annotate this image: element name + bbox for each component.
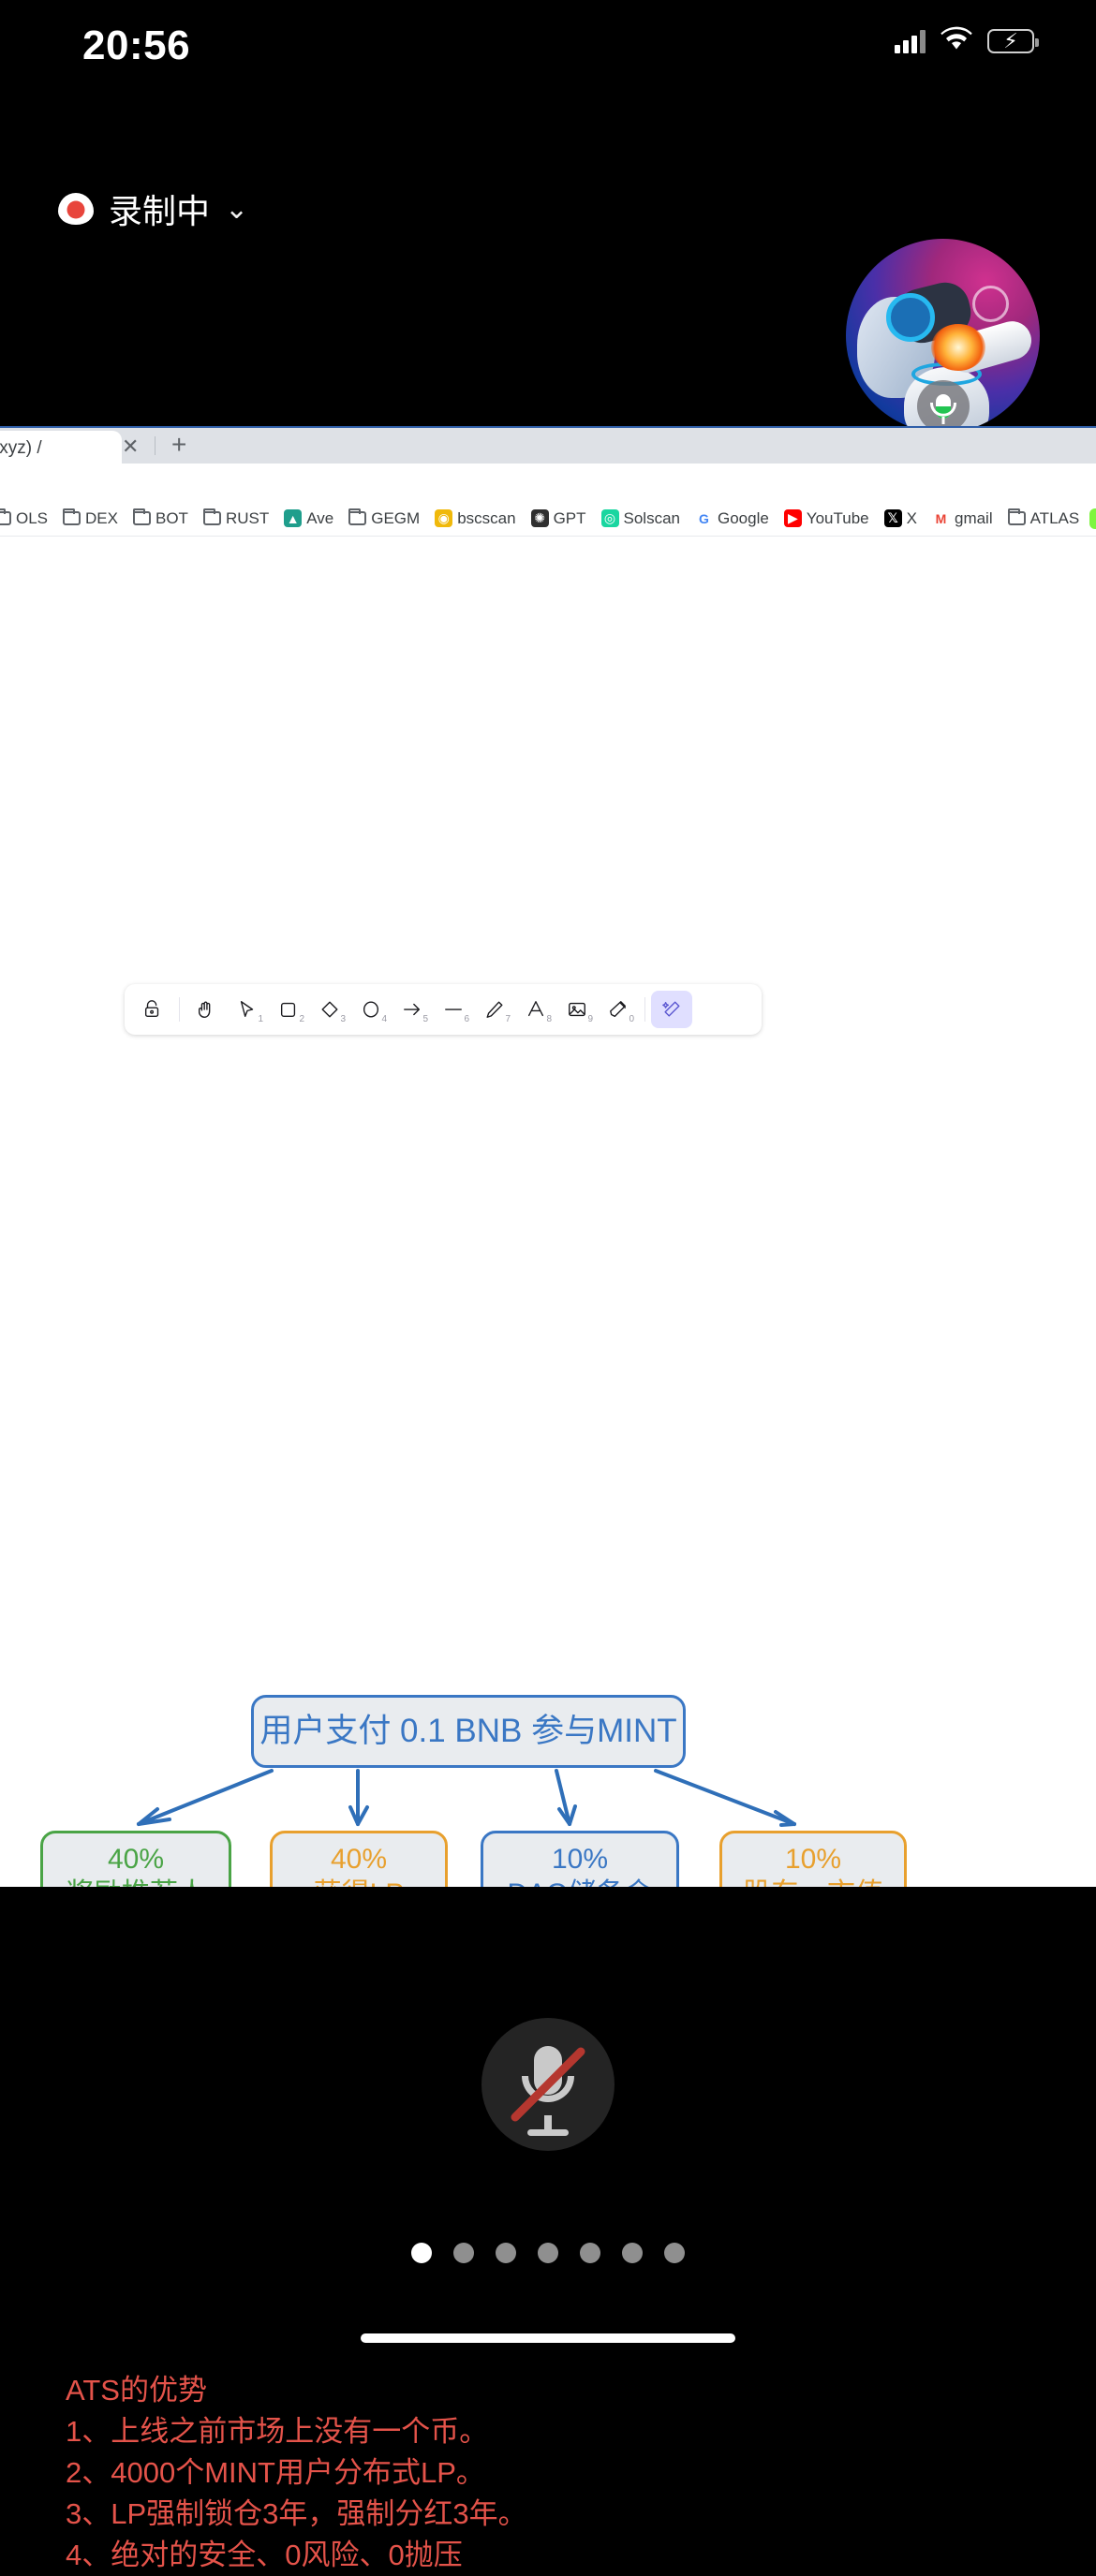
gmail-icon: M xyxy=(932,509,950,527)
folder-icon xyxy=(1008,509,1026,527)
bookmark-rust[interactable]: RUST xyxy=(199,508,274,530)
ave-icon: ▲ xyxy=(284,509,302,527)
bookmark-label: Solscan xyxy=(624,509,680,528)
youtube-icon: ▶ xyxy=(784,509,802,527)
node-percent: 40% xyxy=(331,1843,387,1877)
cellular-signal-icon xyxy=(895,29,926,53)
bookmark-label: BOT xyxy=(156,509,188,528)
node-percent: 40% xyxy=(108,1843,164,1877)
bookmark-youtube[interactable]: ▶YouTube xyxy=(779,508,874,530)
bookmark-label: gmail xyxy=(955,509,993,528)
bookmark-label: RUST xyxy=(226,509,269,528)
bookmark-ave[interactable]: ▲Ave xyxy=(279,508,338,530)
folder-icon xyxy=(203,509,221,527)
tab-title: (@AtlasDao_xyz) / xyxy=(0,438,42,459)
page-dot-6[interactable] xyxy=(622,2243,643,2263)
new-tab-button[interactable]: + xyxy=(171,432,186,458)
status-indicators: ⚡ xyxy=(895,26,1034,55)
bookmark-gegm[interactable]: GEGM xyxy=(344,508,424,530)
browser-tab-strip: (@AtlasDao_xyz) / ✕ + xyxy=(0,426,1096,464)
participant-avatar-wrap[interactable] xyxy=(846,239,1040,433)
page-dot-4[interactable] xyxy=(538,2243,558,2263)
status-time: 20:56 xyxy=(82,22,190,69)
bookmark-label: GPT xyxy=(554,509,586,528)
bookmark-x[interactable]: 𝕏X xyxy=(880,508,922,530)
mic-muted-icon[interactable] xyxy=(481,2018,615,2151)
battery-charging-icon: ⚡ xyxy=(987,29,1034,53)
bookmark-label: X xyxy=(907,509,917,528)
browser-window: (@AtlasDao_xyz) / ✕ + OLSDEXBOTRUST▲AveG… xyxy=(0,426,1096,1887)
browser-tab-active[interactable]: (@AtlasDao_xyz) / xyxy=(0,431,122,465)
bookmark-label: DEX xyxy=(85,509,118,528)
note-ats-advantages: ATS的优势 1、上线之前市场上没有一个币。 2、4000个MINT用户分布式L… xyxy=(66,2370,527,2576)
bookmark-gmail[interactable]: Mgmail xyxy=(927,508,998,530)
bookmark-label: GEGM xyxy=(371,509,420,528)
wifi-icon xyxy=(940,26,972,55)
bookmark-bot[interactable]: BOT xyxy=(128,508,193,530)
page-indicator-dots[interactable] xyxy=(411,2243,685,2263)
bookmark-bscscan[interactable]: ◉bscscan xyxy=(430,508,520,530)
page-dot-1[interactable] xyxy=(411,2243,432,2263)
folder-icon xyxy=(348,509,366,527)
mic-on-icon[interactable] xyxy=(917,380,970,433)
bscscan-icon: ◉ xyxy=(435,509,452,527)
openai-icon: ✺ xyxy=(531,509,549,527)
bookmark-label: ATLAS xyxy=(1030,509,1080,528)
page-dot-2[interactable] xyxy=(453,2243,474,2263)
page-dot-5[interactable] xyxy=(580,2243,600,2263)
recording-dot-icon xyxy=(58,193,94,225)
bookmark-solscan[interactable]: ◎Solscan xyxy=(597,508,685,530)
bookmark-label: OLS xyxy=(16,509,48,528)
bookmark-label: Ave xyxy=(306,509,333,528)
bookmark-ols[interactable]: OLS xyxy=(0,508,52,530)
folder-icon xyxy=(0,509,11,527)
folder-icon xyxy=(63,509,81,527)
bookmark-dex[interactable]: DEX xyxy=(58,508,123,530)
home-indicator xyxy=(361,2333,735,2343)
phone-status-bar: 20:56 ⚡ xyxy=(0,0,1096,94)
node-percent: 10% xyxy=(785,1843,841,1877)
qr-extension-icon[interactable] xyxy=(1089,508,1096,529)
x-icon: 𝕏 xyxy=(884,509,902,527)
browser-address-bar[interactable] xyxy=(0,464,1096,501)
bookmark-atlas[interactable]: ATLAS xyxy=(1003,508,1085,530)
google-icon: G xyxy=(695,509,713,527)
node-percent: 10% xyxy=(552,1843,608,1877)
tab-separator xyxy=(155,436,156,455)
bookmark-label: bscscan xyxy=(457,509,515,528)
tab-close-button[interactable]: ✕ xyxy=(122,436,139,457)
bookmark-label: Google xyxy=(718,509,769,528)
bookmarks-bar: OLSDEXBOTRUST▲AveGEGM◉bscscan✺GPT◎Solsca… xyxy=(0,501,1096,537)
meeting-bottom-bar xyxy=(0,1887,1096,2371)
extension-icons xyxy=(1089,508,1096,529)
recording-status[interactable]: 录制中 ⌄ xyxy=(58,184,248,233)
chevron-down-icon[interactable]: ⌄ xyxy=(225,193,248,226)
page-dot-3[interactable] xyxy=(496,2243,516,2263)
diagram-node-root[interactable]: 用户支付 0.1 BNB 参与MINT xyxy=(251,1695,686,1768)
bookmark-google[interactable]: GGoogle xyxy=(690,508,774,530)
solscan-icon: ◎ xyxy=(601,509,619,527)
recording-label: 录制中 xyxy=(109,184,210,233)
node-label: 用户支付 0.1 BNB 参与MINT xyxy=(259,1712,676,1752)
bookmark-gpt[interactable]: ✺GPT xyxy=(526,508,591,530)
folder-icon xyxy=(133,509,151,527)
bookmark-label: YouTube xyxy=(807,509,869,528)
page-dot-7[interactable] xyxy=(664,2243,685,2263)
